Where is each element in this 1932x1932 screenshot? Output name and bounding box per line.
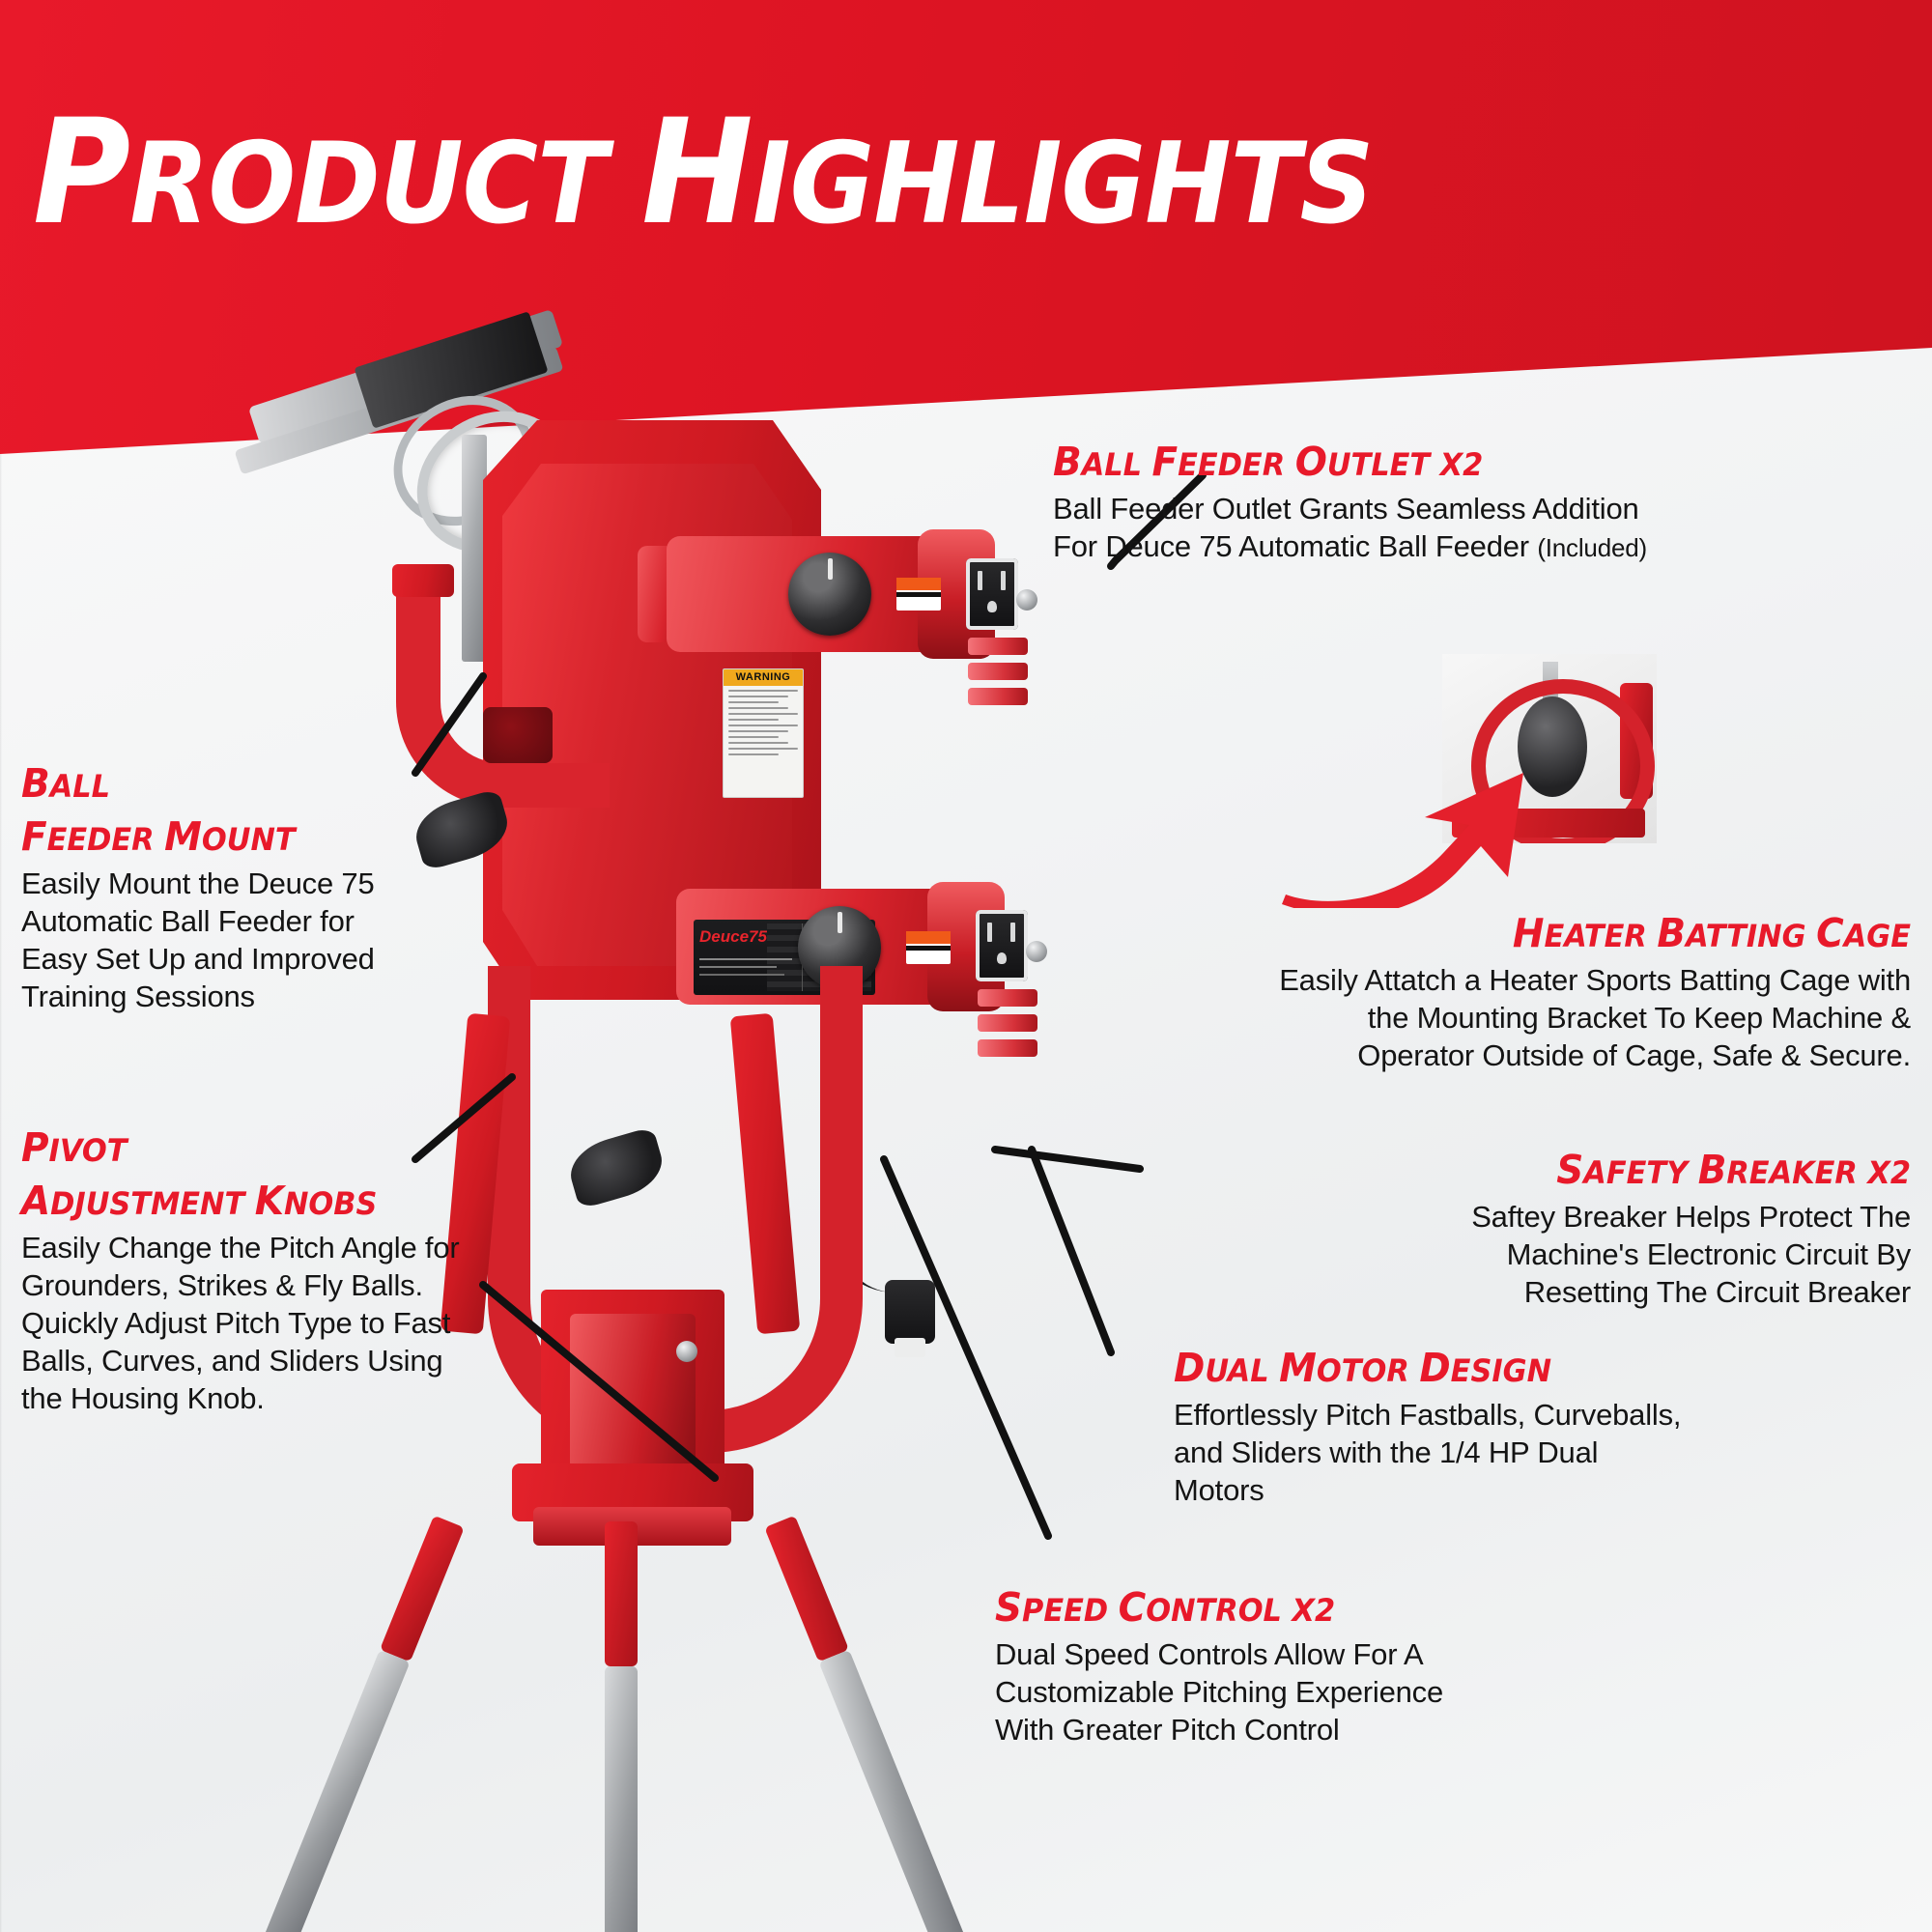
page-title: PRODUCT HIGHLIGHTS: [33, 100, 1373, 257]
callout-speed-control: SPEED CONTROL X2 Dual Speed Controls All…: [995, 1582, 1729, 1748]
callout-body-dual-motor-design: Effortlessly Pitch Fastballs, Curveballs…: [1174, 1396, 1908, 1509]
warning-label: WARNING: [723, 668, 804, 798]
spec-line-1: [699, 958, 792, 960]
callout-body-pivot: Easily Change the Pitch Angle for Ground…: [21, 1229, 543, 1417]
pivot-bolt: [676, 1341, 697, 1362]
infographic-canvas: PRODUCT HIGHLIGHTS WARNING: [0, 0, 1932, 1932]
callout-title-pivot-line2: ADJUSTMENT KNOBS: [21, 1176, 517, 1229]
pivot-plate-face: [570, 1314, 696, 1468]
callout-title-safety-breaker: SAFETY BREAKER X2: [1085, 1145, 1911, 1198]
callout-title-ball-feeder-mount-line1: BALL: [21, 758, 480, 811]
callout-title-speed-control: SPEED CONTROL X2: [995, 1582, 1692, 1635]
power-plug: [885, 1280, 935, 1344]
callout-body-ball-feeder-mount: Easily Mount the Deuce 75 Automatic Ball…: [21, 865, 504, 1015]
callout-title-ball-feeder-outlet: BALL FEEDER OUTLET X2: [1053, 437, 1815, 490]
callout-title-dual-motor-design: DUAL MOTOR DESIGN: [1174, 1343, 1871, 1396]
warning-label-heading: WARNING: [724, 669, 803, 686]
callout-title-heater-batting-cage: HEATER BATTING CAGE: [938, 908, 1911, 961]
callout-dual-motor-design: DUAL MOTOR DESIGN Effortlessly Pitch Fas…: [1174, 1343, 1908, 1509]
tripod-leg-center: [605, 1521, 638, 1932]
callout-title-ball-feeder-mount-line2: FEEDER MOUNT: [21, 811, 480, 865]
callout-pivot-adjustment-knobs: PIVOT ADJUSTMENT KNOBS Easily Change the…: [21, 1122, 543, 1417]
callout-body-safety-breaker: Saftey Breaker Helps Protect The Machine…: [1041, 1198, 1911, 1311]
callout-ball-feeder-outlet: BALL FEEDER OUTLET X2 Ball Feeder Outlet…: [1053, 437, 1855, 567]
upper-indicator-stripe: [896, 578, 941, 611]
ball-chute-opening: [483, 707, 553, 763]
pointer-arrow-icon: [1280, 763, 1531, 908]
warning-label-text: [724, 686, 803, 763]
upper-motor-bolt: [1016, 589, 1037, 611]
callout-heater-batting-cage: HEATER BATTING CAGE Easily Attatch a Hea…: [887, 908, 1911, 1074]
upper-speed-control-knob[interactable]: [788, 553, 871, 636]
upper-breaker-fins[interactable]: [968, 638, 1028, 728]
tripod-leg-left: [260, 1516, 464, 1932]
callout-body-speed-control: Dual Speed Controls Allow For A Customiz…: [995, 1635, 1729, 1748]
upper-ball-feeder-outlet[interactable]: [966, 558, 1018, 630]
callout-body-heater-batting-cage: Easily Attatch a Heater Sports Batting C…: [887, 961, 1911, 1074]
tripod-leg-right: [764, 1516, 968, 1932]
ball-chute-mount: [392, 564, 454, 597]
callout-ball-feeder-mount: BALL FEEDER MOUNT Easily Mount the Deuce…: [21, 758, 504, 1015]
callout-body-ball-feeder-outlet: Ball Feeder Outlet Grants Seamless Addit…: [1053, 490, 1855, 567]
brand-label: Deuce75: [699, 927, 767, 947]
callout-safety-breaker: SAFETY BREAKER X2 Saftey Breaker Helps P…: [1041, 1145, 1911, 1311]
callout-title-pivot-line1: PIVOT: [21, 1122, 517, 1176]
